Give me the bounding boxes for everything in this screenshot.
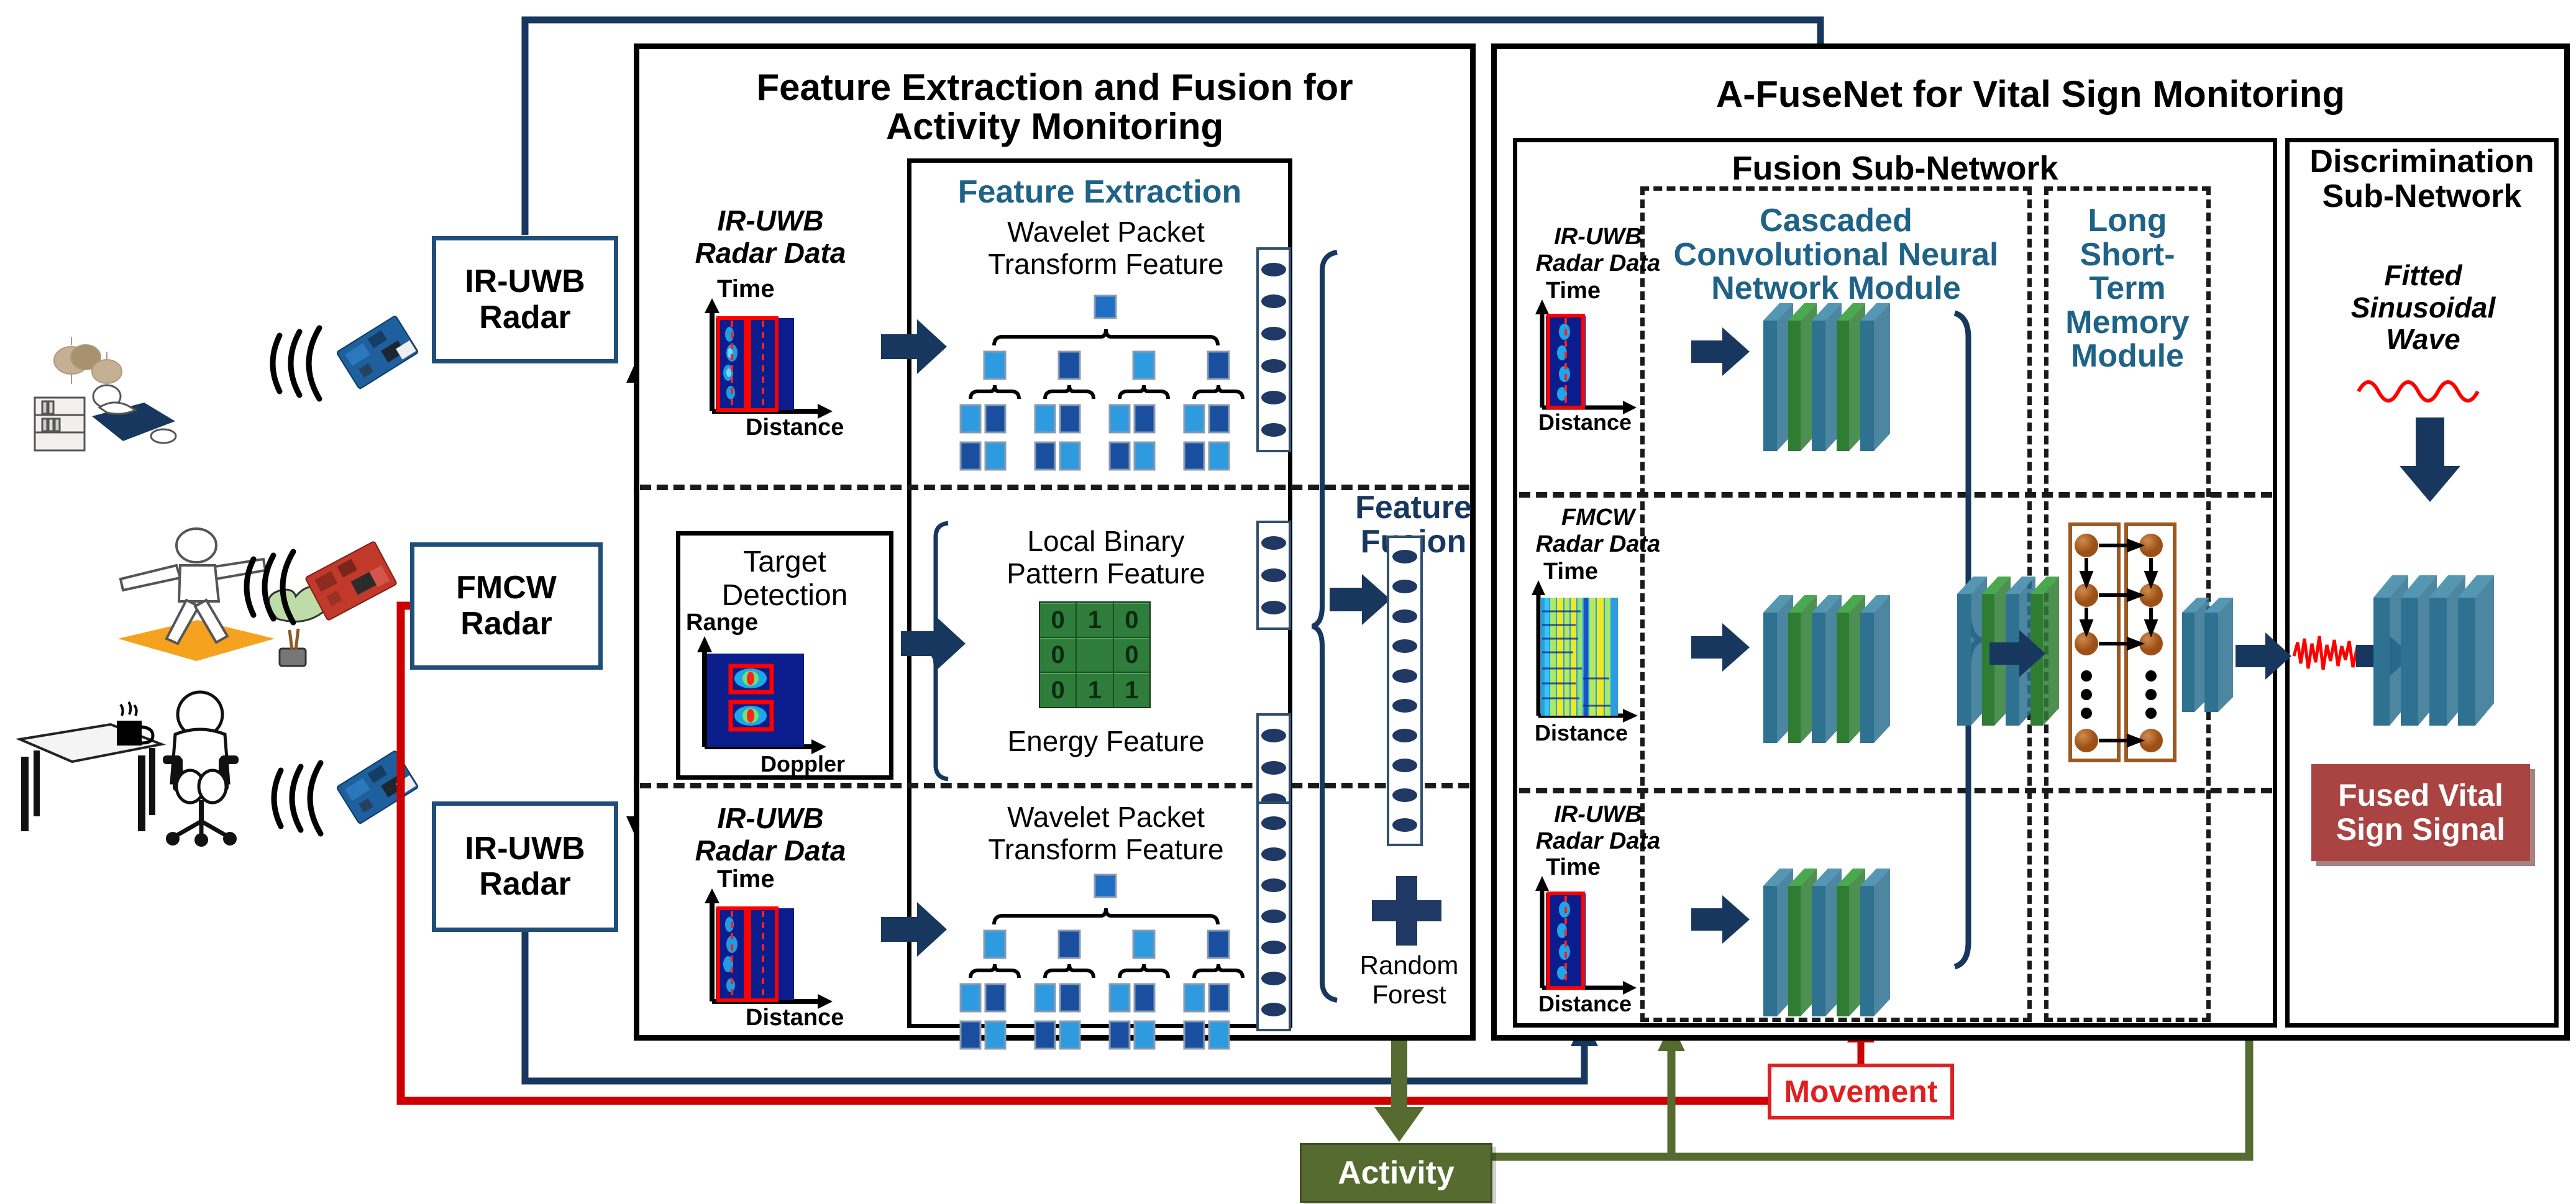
feature-line2: Transform Feature (988, 834, 1223, 866)
arrow-input-1-to-cnn (1691, 326, 1751, 381)
vector-dot (1261, 359, 1286, 373)
lbp-cell: 1 (1077, 673, 1112, 707)
vector-dot (1261, 761, 1286, 775)
afusenet-input-label-2: FMCW Radar Data (1517, 504, 1679, 557)
row-separator-2 (640, 783, 1469, 788)
bed-with-person-icon (92, 385, 176, 443)
scene-sleeping-person (12, 292, 273, 478)
radar-plot-uwb-top: Time Distance (688, 280, 875, 441)
input-label-line1: IR-UWB (1554, 224, 1642, 250)
svg-text:Time: Time (1546, 278, 1601, 304)
fmcw-radar-board-icon (292, 522, 410, 643)
x-axis-label: Doppler (760, 751, 845, 777)
feature-vector-wpt-top (1256, 247, 1291, 452)
afusenet-input-label-1: IR-UWB Radar Data (1517, 224, 1679, 276)
device-label-line2: Radar (460, 606, 552, 642)
wave-label-line2: Sinusoidal (2351, 292, 2496, 324)
output-label-line2: Sign Signal (2336, 813, 2505, 847)
input-label-line1: IR-UWB (1554, 801, 1642, 828)
afusenet-radar-plot-2: Time Distance (1516, 559, 1684, 746)
vector-dot (1392, 759, 1417, 772)
down-arrow-icon (2396, 417, 2464, 508)
lanterns-icon (54, 337, 122, 393)
svg-text:Time: Time (1546, 854, 1601, 880)
vector-dot (1261, 391, 1286, 404)
vector-dot (1392, 788, 1417, 802)
vector-dot (1261, 568, 1286, 582)
vector-dot (1261, 729, 1286, 742)
plus-icon (1372, 876, 1441, 946)
vector-dot (1392, 580, 1417, 593)
classifier-line1: Random (1360, 951, 1459, 980)
discrim-title-line2: Sub-Network (2323, 179, 2522, 214)
vector-dot (1261, 941, 1286, 954)
feature-line2: Pattern Feature (1007, 558, 1205, 590)
feature-label-energy: Energy Feature (963, 726, 1249, 758)
status-badge-activity[interactable]: Activity (1300, 1143, 1492, 1203)
feature-vector-wpt-bottom (1256, 801, 1291, 1031)
status-badge-movement[interactable]: Movement (1768, 1064, 1954, 1120)
section-title-discrimination-subnetwork: Discrimination Sub-Network (2291, 144, 2552, 214)
right-row-separator-1 (1519, 492, 2272, 498)
brace-row2 (927, 521, 952, 785)
lstm-title-line5: Module (2071, 339, 2184, 373)
ir-uwb-radar-board-icon-top (322, 297, 434, 412)
device-label-line1: FMCW (456, 570, 557, 606)
vector-dot (1261, 327, 1286, 340)
range-doppler-plot: Range Doppler (682, 609, 887, 777)
input-label-line2: Radar Data (1536, 828, 1661, 855)
cnn-slab-stack-3 (1763, 851, 1950, 1031)
svg-text:Distance: Distance (1538, 991, 1632, 1016)
discrimination-slab-stack (2373, 559, 2535, 752)
module-title-lstm: Long Short- Term Memory Module (2048, 204, 2207, 373)
radar-plot-uwb-bottom: Time Distance (688, 870, 875, 1031)
feature-line1: Local Binary (1027, 526, 1184, 558)
feature-line1: Wavelet Packet (1007, 216, 1205, 249)
data-label-uwb-top: IR-UWB Radar Data (677, 205, 864, 269)
vector-dot (1392, 729, 1417, 742)
x-axis-label: Distance (746, 414, 844, 440)
cnn-title-line2: Convolutional Neural (1674, 238, 1999, 272)
feature-line2: Transform Feature (988, 249, 1223, 281)
afusenet-input-label-3: IR-UWB Radar Data (1517, 801, 1679, 854)
section-title-fusion-subnetwork: Fusion Sub-Network (1519, 148, 2271, 189)
svg-text:Distance: Distance (1538, 409, 1632, 435)
vector-dot (1261, 601, 1286, 614)
lbp-cell: 0 (1040, 673, 1076, 707)
vector-dot (1392, 609, 1417, 623)
classifier-label-random-forest: Random Forest (1347, 951, 1471, 1009)
arrow-input-2-to-cnn (1691, 621, 1751, 677)
lstm-title-line2: Short- (2080, 238, 2175, 272)
red-sine-wave-icon (2356, 367, 2493, 419)
page-title-left: Feature Extraction and Fusion for Activi… (639, 49, 1470, 158)
x-axis-label: Distance (746, 1005, 844, 1031)
cnn-slab-stack-2 (1763, 578, 1950, 758)
discrim-title-line1: Discrimination (2309, 144, 2534, 179)
y-axis-label: Range (686, 609, 758, 636)
svg-text:Time: Time (1543, 559, 1598, 585)
feature-label-lbp: Local Binary Pattern Feature (963, 526, 1249, 590)
lstm-title-line1: Long (2088, 204, 2167, 238)
lstm-lattice (2062, 522, 2198, 770)
feature-fusion-vector (1387, 536, 1423, 846)
output-label-line1: Fused Vital (2338, 778, 2503, 813)
label-line2: Radar Data (695, 835, 846, 867)
fitted-wave-label: Fitted Sinusoidal Wave (2299, 260, 2547, 356)
device-box-ir-uwb-top[interactable]: IR-UWB Radar (432, 236, 618, 363)
lbp-cell: 0 (1040, 603, 1076, 637)
arrow-into-feature-extraction-3 (881, 900, 949, 962)
vector-dot (1261, 263, 1286, 276)
lbp-cell: 1 (1114, 673, 1149, 707)
label-line1: IR-UWB (717, 205, 823, 237)
device-box-ir-uwb-bottom[interactable]: IR-UWB Radar (432, 801, 618, 932)
y-axis-label: Time (717, 865, 775, 893)
panel-title-line2: Activity Monitoring (886, 107, 1223, 146)
panel-title: A-FuseNet for Vital Sign Monitoring (1716, 75, 2345, 114)
input-label-line2: Radar Data (1536, 250, 1661, 277)
scene-seated-person (6, 677, 267, 882)
label-line1: IR-UWB (717, 803, 823, 835)
lbp-cell: 0 (1114, 603, 1149, 637)
vector-dot (1261, 972, 1286, 985)
lbp-cell-center (1077, 638, 1112, 672)
vector-dot (1261, 1003, 1286, 1016)
fusion-brace (1311, 249, 1341, 1016)
arrow-lstm-to-discrimination (2236, 631, 2293, 684)
arrow-into-fusion-vector (1330, 572, 1392, 631)
feature-vector-lbp (1256, 521, 1291, 630)
row-separator-1 (640, 485, 1469, 490)
label-line1: Target (743, 545, 826, 579)
vector-dot (1392, 818, 1417, 832)
svg-text:Distance: Distance (1535, 720, 1628, 746)
input-label-line2: Radar Data (1536, 531, 1661, 558)
afusenet-radar-plot-3: Time Distance (1521, 856, 1676, 1018)
target-detection-label: Target Detection (683, 545, 886, 613)
classifier-line2: Forest (1372, 980, 1446, 1009)
arrow-cnn-to-lstm (1989, 629, 2047, 682)
section-title-feature-extraction: Feature Extraction (913, 173, 1286, 211)
device-label-line2: Radar (479, 300, 570, 335)
lbp-cell: 1 (1077, 603, 1112, 637)
vector-dot (1261, 294, 1286, 308)
device-label-line1: IR-UWB (465, 264, 585, 299)
data-label-uwb-bottom: IR-UWB Radar Data (677, 803, 864, 867)
arrow-into-feature-extraction-1 (881, 317, 949, 380)
vector-dot (1261, 536, 1286, 550)
ir-uwb-radar-board-icon-bottom (322, 732, 434, 847)
vector-dot (1392, 550, 1417, 563)
panel-title-line1: Feature Extraction and Fusion for (756, 68, 1353, 107)
label-line2: Detection (722, 579, 848, 613)
wavelet-packet-tree-top (957, 292, 1255, 478)
right-row-separator-2 (1519, 788, 2272, 793)
vector-dot (1392, 639, 1417, 653)
device-label-line2: Radar (479, 867, 570, 902)
wavelet-packet-tree-bottom (957, 871, 1255, 1057)
label-line2: Radar Data (695, 237, 846, 270)
vector-dot (1261, 816, 1286, 830)
lstm-title-line3: Term (2089, 271, 2165, 306)
office-chair-with-person-icon (163, 692, 239, 847)
lbp-grid: 0 1 0 0 0 0 1 1 (1039, 601, 1151, 708)
feature-line1: Wavelet Packet (1007, 801, 1205, 834)
vector-dot (1261, 847, 1286, 861)
input-label-line1: FMCW (1561, 504, 1635, 531)
vector-dot (1392, 699, 1417, 713)
bookshelf-icon (35, 398, 84, 450)
device-box-fmcw[interactable]: FMCW Radar (410, 542, 603, 670)
fusion-title-line1: Feature (1355, 491, 1472, 525)
fused-vital-sign-output-box[interactable]: Fused Vital Sign Signal (2311, 764, 2530, 861)
lbp-cell: 0 (1040, 638, 1076, 672)
page-title-right: A-FuseNet for Vital Sign Monitoring (1497, 49, 2564, 139)
lbp-cell: 0 (1114, 638, 1149, 672)
feature-label-wpt-top: Wavelet Packet Transform Feature (960, 216, 1252, 280)
wave-label-line1: Fitted (2384, 260, 2462, 292)
afusenet-radar-plot-1: Time Distance (1521, 280, 1676, 435)
arrow-input-3-to-cnn (1691, 893, 1751, 949)
vector-dot (1261, 423, 1286, 437)
wave-label-line3: Wave (2386, 324, 2460, 356)
y-axis-label: Time (717, 275, 775, 303)
vector-dot (1261, 878, 1286, 892)
vector-dot (1261, 910, 1286, 923)
cnn-title-line1: Cascaded (1760, 204, 1912, 238)
feature-label-wpt-bottom: Wavelet Packet Transform Feature (960, 801, 1252, 865)
cnn-slab-stack-1 (1763, 286, 1950, 466)
lstm-title-line4: Memory (2065, 306, 2189, 340)
device-label-line1: IR-UWB (465, 831, 585, 867)
vector-dot (1392, 669, 1417, 683)
